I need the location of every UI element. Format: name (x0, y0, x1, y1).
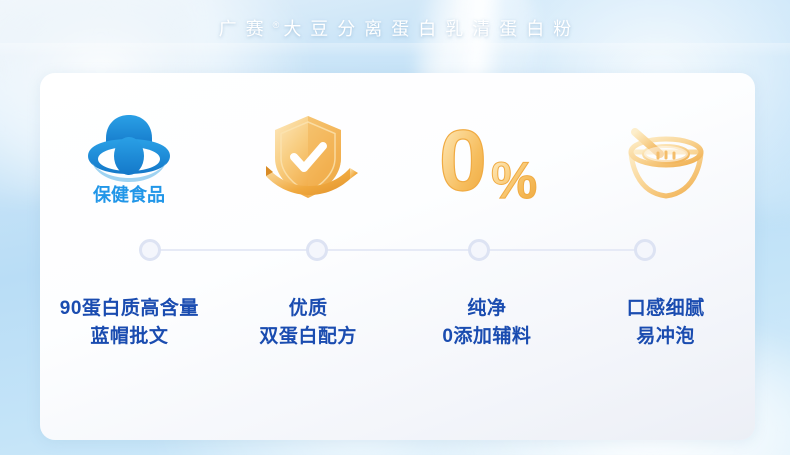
feature-caption-4-line1: 口感细腻 (627, 298, 705, 319)
feature-icon-row: 保健食品 (40, 103, 755, 213)
registered-mark-icon: ® (273, 20, 284, 30)
feature-caption-2: 优质 双蛋白配方 (219, 295, 398, 350)
connector-dot-3 (468, 239, 490, 261)
connector-dot-1 (139, 239, 161, 261)
feature-icon-4 (576, 103, 755, 213)
banner-header: 广赛®大豆分离蛋白乳清蛋白粉 (0, 0, 790, 58)
zero-glyph: 0 (439, 113, 487, 204)
gold-bowl-spoon-steam-icon (614, 110, 718, 206)
feature-caption-row: 90蛋白质高含量 蓝帽批文 优质 双蛋白配方 纯净 0添加辅料 口感细腻 易冲泡 (40, 295, 755, 350)
header-light-band (0, 43, 790, 57)
feature-caption-2-line2: 双蛋白配方 (219, 323, 398, 351)
product-feature-banner: 广赛®大豆分离蛋白乳清蛋白粉 (0, 0, 790, 455)
feature-icon-2 (219, 103, 398, 213)
connector-dot-4 (634, 239, 656, 261)
feature-connector (40, 237, 755, 263)
feature-caption-3: 纯净 0添加辅料 (398, 295, 577, 350)
page-title: 广赛®大豆分离蛋白乳清蛋白粉 (210, 20, 581, 38)
feature-caption-1: 90蛋白质高含量 蓝帽批文 (40, 295, 219, 350)
feature-caption-4: 口感细腻 易冲泡 (576, 295, 755, 350)
feature-icon-1: 保健食品 (40, 103, 219, 213)
title-product-name: 大豆分离蛋白乳清蛋白粉 (283, 19, 580, 39)
percent-glyph: % (491, 152, 537, 204)
feature-caption-3-line1: 纯净 (467, 298, 506, 319)
title-brand: 广赛 (219, 19, 273, 39)
gold-shield-check-ribbon-icon (257, 110, 359, 206)
feature-caption-1-line1: 90蛋白质高含量 (60, 298, 199, 319)
feature-icon-3: 0 % (398, 103, 577, 213)
blue-hat-health-food-logo-icon: 保健食品 (74, 108, 184, 208)
connector-line (150, 249, 645, 251)
gold-zero-percent-icon: 0 % (433, 112, 541, 204)
feature-caption-4-line2: 易冲泡 (576, 323, 755, 351)
blue-hat-logo-label: 保健食品 (92, 184, 165, 205)
feature-caption-3-line2: 0添加辅料 (398, 323, 577, 351)
feature-caption-2-line1: 优质 (289, 298, 328, 319)
connector-dot-2 (306, 239, 328, 261)
feature-card: 保健食品 (40, 73, 755, 440)
feature-caption-1-line2: 蓝帽批文 (40, 323, 219, 351)
